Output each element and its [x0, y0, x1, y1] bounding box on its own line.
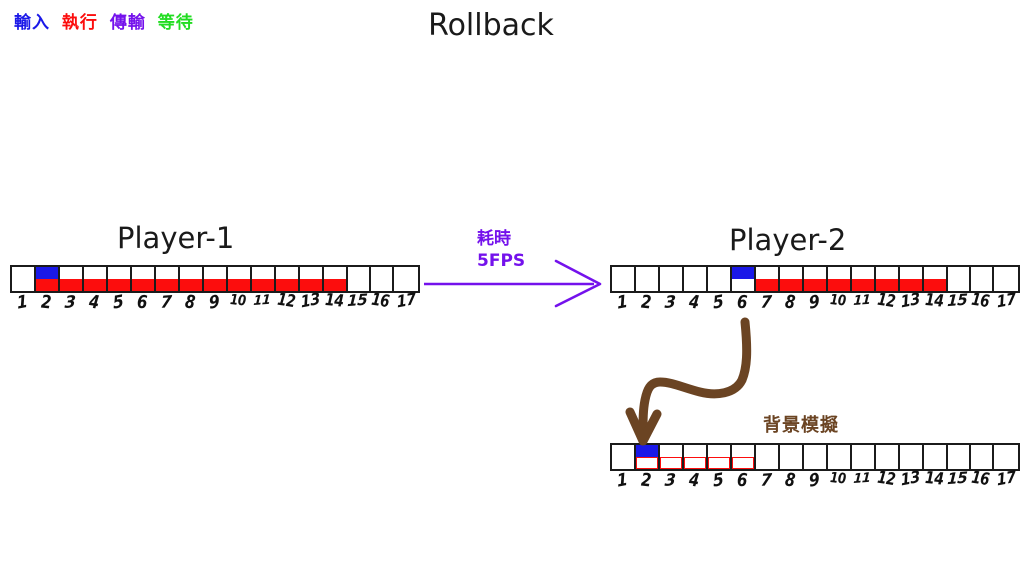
cell-bottom-segment	[732, 279, 754, 291]
cell-top-segment	[924, 445, 946, 457]
player-1-tick-12: 12	[274, 293, 298, 319]
player-2-cell-17	[992, 265, 1020, 293]
cell-top-segment	[708, 445, 730, 457]
cell-bottom-segment	[636, 457, 658, 469]
player-1-tick-3: 3	[58, 293, 82, 319]
player-1-cell-2	[34, 265, 58, 293]
cell-bottom-segment	[228, 279, 250, 291]
player-1-cell-5	[106, 265, 130, 293]
player-2-cell-4	[682, 265, 706, 293]
cell-bottom-segment	[852, 457, 874, 469]
cell-top-segment	[324, 267, 346, 279]
background-sim-tick-4: 4	[682, 471, 706, 497]
cell-top-segment	[612, 267, 634, 279]
player-2-tick-7: 7	[754, 293, 778, 319]
cell-bottom-segment	[924, 279, 946, 291]
timeline-player-2	[610, 265, 1020, 293]
cell-top-segment	[371, 267, 392, 279]
cell-top-segment	[60, 267, 82, 279]
cell-bottom-segment	[828, 279, 850, 291]
tick-row-player-1: 1234567891011121314151617	[10, 293, 420, 319]
background-sim-tick-3: 3	[658, 471, 682, 497]
cell-top-segment	[900, 445, 922, 457]
cell-top-segment	[660, 445, 682, 457]
cell-top-segment	[804, 445, 826, 457]
cell-top-segment	[636, 445, 658, 457]
cell-bottom-segment	[948, 457, 969, 469]
cell-top-segment	[732, 445, 754, 457]
cell-top-segment	[971, 445, 992, 457]
cell-top-segment	[660, 267, 682, 279]
tick-row-background-sim: 1234567891011121314151617	[610, 471, 1020, 497]
cell-bottom-segment	[612, 457, 634, 469]
background-sim-cell-7	[754, 443, 778, 471]
player-2-tick-9: 9	[802, 293, 826, 319]
cell-top-segment	[804, 267, 826, 279]
player-1-tick-10: 10	[226, 293, 250, 319]
background-sim-cell-12	[874, 443, 898, 471]
player-1-cell-11	[250, 265, 274, 293]
cell-bottom-segment	[684, 457, 706, 469]
player-1-tick-16: 16	[369, 293, 392, 319]
player-1-tick-4: 4	[82, 293, 106, 319]
player-2-tick-10: 10	[826, 293, 850, 319]
cell-bottom-segment	[12, 279, 34, 291]
cell-bottom-segment	[348, 279, 369, 291]
player-2-cell-2	[634, 265, 658, 293]
player-2-tick-1: 1	[610, 293, 634, 319]
cell-top-segment	[948, 445, 969, 457]
player-1-cell-10	[226, 265, 250, 293]
cell-top-segment	[84, 267, 106, 279]
cell-bottom-segment	[324, 279, 346, 291]
background-sim-tick-7: 7	[754, 471, 778, 497]
background-sim-tick-12: 12	[874, 471, 898, 497]
background-sim-tick-5: 5	[706, 471, 730, 497]
background-sim-tick-10: 10	[826, 471, 850, 497]
cell-bottom-segment	[660, 279, 682, 291]
player-2-cell-11	[850, 265, 874, 293]
player-2-tick-11: 11	[850, 293, 874, 319]
cell-top-segment	[612, 445, 634, 457]
cell-top-segment	[204, 267, 226, 279]
player-2-cell-6	[730, 265, 754, 293]
cell-top-segment	[852, 267, 874, 279]
cell-top-segment	[756, 445, 778, 457]
player-2-cell-14	[922, 265, 946, 293]
transfer-arrow-label-line1: 耗時	[477, 228, 525, 250]
player-1-tick-17: 17	[392, 293, 420, 319]
cell-top-segment	[994, 267, 1018, 279]
player-2-tick-5: 5	[706, 293, 730, 319]
player-1-tick-5: 5	[106, 293, 130, 319]
player-2-tick-2: 2	[634, 293, 658, 319]
player-1-cell-9	[202, 265, 226, 293]
background-sim-cell-2	[634, 443, 658, 471]
player-2-tick-17: 17	[992, 293, 1020, 319]
player-2-tick-8: 8	[778, 293, 802, 319]
cell-bottom-segment	[684, 279, 706, 291]
background-sim-cell-1	[610, 443, 634, 471]
player-1-tick-8: 8	[178, 293, 202, 319]
background-sim-tick-1: 1	[610, 471, 634, 497]
player-1-cell-15	[346, 265, 369, 293]
player-1-tick-15: 15	[346, 293, 369, 319]
cell-bottom-segment	[156, 279, 178, 291]
background-sim-cell-9	[802, 443, 826, 471]
background-sim-cell-6	[730, 443, 754, 471]
cell-top-segment	[684, 267, 706, 279]
player-2-cell-5	[706, 265, 730, 293]
player-1-tick-1: 1	[10, 293, 34, 319]
cell-top-segment	[708, 267, 730, 279]
page-title-text: Rollback	[428, 8, 554, 43]
background-sim-tick-14: 14	[922, 471, 946, 497]
player-2-cell-9	[802, 265, 826, 293]
cell-bottom-segment	[780, 457, 802, 469]
cell-bottom-segment	[924, 457, 946, 469]
cell-top-segment	[971, 267, 992, 279]
player-1-tick-7: 7	[154, 293, 178, 319]
background-sim-tick-8: 8	[778, 471, 802, 497]
background-sim-tick-17: 17	[992, 471, 1020, 497]
background-sim-cell-16	[969, 443, 992, 471]
player-2-tick-15: 15	[946, 293, 969, 319]
cell-bottom-segment	[612, 279, 634, 291]
player-1-cell-16	[369, 265, 392, 293]
player-2-cell-15	[946, 265, 969, 293]
cell-top-segment	[394, 267, 418, 279]
cell-top-segment	[180, 267, 202, 279]
player-2-tick-13: 13	[898, 293, 922, 319]
cell-bottom-segment	[828, 457, 850, 469]
player-1-cell-8	[178, 265, 202, 293]
cell-top-segment	[684, 445, 706, 457]
cell-bottom-segment	[804, 279, 826, 291]
background-sim-cell-15	[946, 443, 969, 471]
cell-bottom-segment	[108, 279, 130, 291]
background-sim-cell-4	[682, 443, 706, 471]
cell-bottom-segment	[636, 279, 658, 291]
player-1-cell-4	[82, 265, 106, 293]
cell-top-segment	[300, 267, 322, 279]
player-2-heading: Player-2	[729, 223, 846, 257]
cell-bottom-segment	[132, 279, 154, 291]
cell-bottom-segment	[780, 279, 802, 291]
player-2-cell-10	[826, 265, 850, 293]
cell-bottom-segment	[204, 279, 226, 291]
player-1-cell-3	[58, 265, 82, 293]
transfer-arrow-label: 耗時 5FPS	[477, 228, 525, 272]
cell-bottom-segment	[708, 279, 730, 291]
cell-bottom-segment	[948, 279, 969, 291]
player-1-tick-11: 11	[250, 293, 274, 319]
player-1-cell-13	[298, 265, 322, 293]
player-2-cell-12	[874, 265, 898, 293]
cell-bottom-segment	[660, 457, 682, 469]
cell-top-segment	[756, 267, 778, 279]
player-2-cell-13	[898, 265, 922, 293]
background-sim-label: 背景模擬	[763, 411, 839, 437]
cell-top-segment	[828, 267, 850, 279]
player-2-tick-12: 12	[874, 293, 898, 319]
background-sim-cell-10	[826, 443, 850, 471]
player-1-cell-1	[10, 265, 34, 293]
player-1-cell-17	[392, 265, 420, 293]
cell-bottom-segment	[852, 279, 874, 291]
player-1-tick-6: 6	[130, 293, 154, 319]
player-2-tick-16: 16	[969, 293, 992, 319]
cell-bottom-segment	[252, 279, 274, 291]
cell-bottom-segment	[804, 457, 826, 469]
background-sim-cell-5	[706, 443, 730, 471]
cell-bottom-segment	[36, 279, 58, 291]
cell-top-segment	[828, 445, 850, 457]
player-1-cell-14	[322, 265, 346, 293]
background-sim-tick-9: 9	[802, 471, 826, 497]
background-sim-tick-13: 13	[898, 471, 922, 497]
background-sim-cell-14	[922, 443, 946, 471]
timeline-background-sim	[610, 443, 1020, 471]
transfer-arrow-label-line2: 5FPS	[477, 250, 525, 272]
player-2-tick-3: 3	[658, 293, 682, 319]
player-1-cell-7	[154, 265, 178, 293]
cell-top-segment	[108, 267, 130, 279]
cell-top-segment	[36, 267, 58, 279]
background-sim-cell-3	[658, 443, 682, 471]
background-sim-cell-11	[850, 443, 874, 471]
background-sim-tick-15: 15	[946, 471, 969, 497]
cell-top-segment	[12, 267, 34, 279]
player-1-tick-13: 13	[298, 293, 322, 319]
player-2-cell-8	[778, 265, 802, 293]
cell-top-segment	[876, 445, 898, 457]
cell-bottom-segment	[756, 279, 778, 291]
cell-top-segment	[252, 267, 274, 279]
player-1-heading: Player-1	[117, 221, 234, 255]
background-sim-cell-8	[778, 443, 802, 471]
cell-bottom-segment	[60, 279, 82, 291]
cell-top-segment	[732, 267, 754, 279]
cell-bottom-segment	[84, 279, 106, 291]
cell-bottom-segment	[708, 457, 730, 469]
player-2-cell-3	[658, 265, 682, 293]
cell-top-segment	[876, 267, 898, 279]
cell-top-segment	[636, 267, 658, 279]
background-sim-cell-13	[898, 443, 922, 471]
player-2-cell-7	[754, 265, 778, 293]
cell-top-segment	[156, 267, 178, 279]
player-2-tick-4: 4	[682, 293, 706, 319]
player-2-tick-14: 14	[922, 293, 946, 319]
cell-top-segment	[276, 267, 298, 279]
player-1-cell-6	[130, 265, 154, 293]
cell-top-segment	[228, 267, 250, 279]
background-sim-tick-2: 2	[634, 471, 658, 497]
player-2-cell-16	[969, 265, 992, 293]
player-1-tick-14: 14	[322, 293, 346, 319]
cell-bottom-segment	[180, 279, 202, 291]
background-sim-cell-17	[992, 443, 1020, 471]
rollback-arrow-icon	[630, 322, 747, 441]
player-1-tick-9: 9	[202, 293, 226, 319]
cell-top-segment	[994, 445, 1018, 457]
player-1-tick-2: 2	[34, 293, 58, 319]
cell-top-segment	[132, 267, 154, 279]
background-sim-tick-6: 6	[730, 471, 754, 497]
cell-top-segment	[900, 267, 922, 279]
player-2-tick-6: 6	[730, 293, 754, 319]
cell-bottom-segment	[732, 457, 754, 469]
cell-top-segment	[780, 267, 802, 279]
cell-top-segment	[348, 267, 369, 279]
background-sim-tick-16: 16	[969, 471, 992, 497]
tick-row-player-2: 1234567891011121314151617	[610, 293, 1020, 319]
cell-bottom-segment	[756, 457, 778, 469]
timeline-player-1	[10, 265, 420, 293]
player-2-cell-1	[610, 265, 634, 293]
player-1-cell-12	[274, 265, 298, 293]
cell-top-segment	[948, 267, 969, 279]
cell-top-segment	[780, 445, 802, 457]
cell-top-segment	[924, 267, 946, 279]
background-sim-tick-11: 11	[850, 471, 874, 497]
page-title: Rollback	[0, 8, 1024, 43]
cell-top-segment	[852, 445, 874, 457]
